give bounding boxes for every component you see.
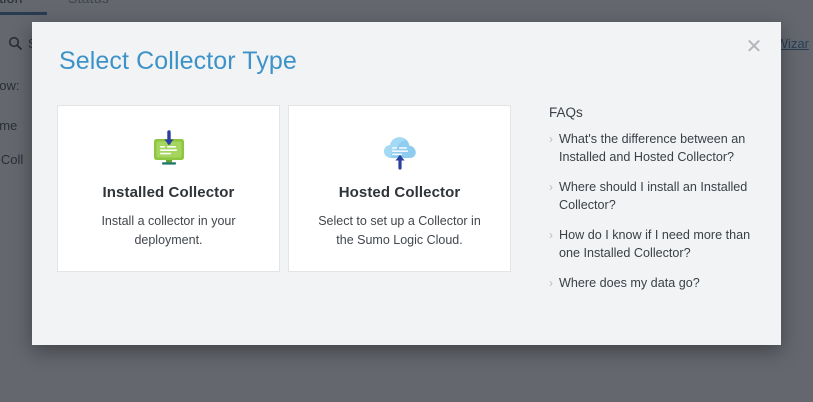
cloud-upload-icon: [377, 128, 423, 174]
chevron-right-icon: ›: [549, 227, 553, 244]
screen-root: ction Status S how: ame o Coll Wizar ✕ S…: [0, 0, 813, 402]
faq-item-label: What's the difference between an Install…: [559, 131, 774, 166]
faq-item-how-many[interactable]: › How do I know if I need more than one …: [549, 227, 774, 262]
installed-collector-description: Install a collector in your deployment.: [78, 212, 260, 250]
close-icon[interactable]: ✕: [741, 34, 767, 60]
dialog-title: Select Collector Type: [59, 47, 297, 76]
hosted-collector-title: Hosted Collector: [339, 184, 461, 201]
faq-item-label: Where should I install an Installed Coll…: [559, 179, 774, 214]
collector-type-cards: Installed Collector Install a collector …: [57, 105, 511, 272]
chevron-right-icon: ›: [549, 131, 553, 148]
select-collector-type-dialog: ✕ Select Collector Type: [32, 22, 781, 345]
chevron-right-icon: ›: [549, 179, 553, 196]
faq-item-where-install[interactable]: › Where should I install an Installed Co…: [549, 179, 774, 214]
faq-item-label: Where does my data go?: [559, 275, 700, 293]
chevron-right-icon: ›: [549, 275, 553, 292]
installed-collector-title: Installed Collector: [103, 184, 235, 201]
faq-section: FAQs › What's the difference between an …: [549, 105, 774, 306]
monitor-download-icon: [146, 128, 192, 174]
hosted-collector-description: Select to set up a Collector in the Sumo…: [309, 212, 491, 250]
faq-item-label: How do I know if I need more than one In…: [559, 227, 774, 262]
installed-collector-card[interactable]: Installed Collector Install a collector …: [57, 105, 280, 272]
faq-item-data-destination[interactable]: › Where does my data go?: [549, 275, 774, 293]
dialog-body: Installed Collector Install a collector …: [32, 105, 781, 306]
faq-heading: FAQs: [549, 105, 774, 120]
hosted-collector-card[interactable]: Hosted Collector Select to set up a Coll…: [288, 105, 511, 272]
faq-item-difference[interactable]: › What's the difference between an Insta…: [549, 131, 774, 166]
